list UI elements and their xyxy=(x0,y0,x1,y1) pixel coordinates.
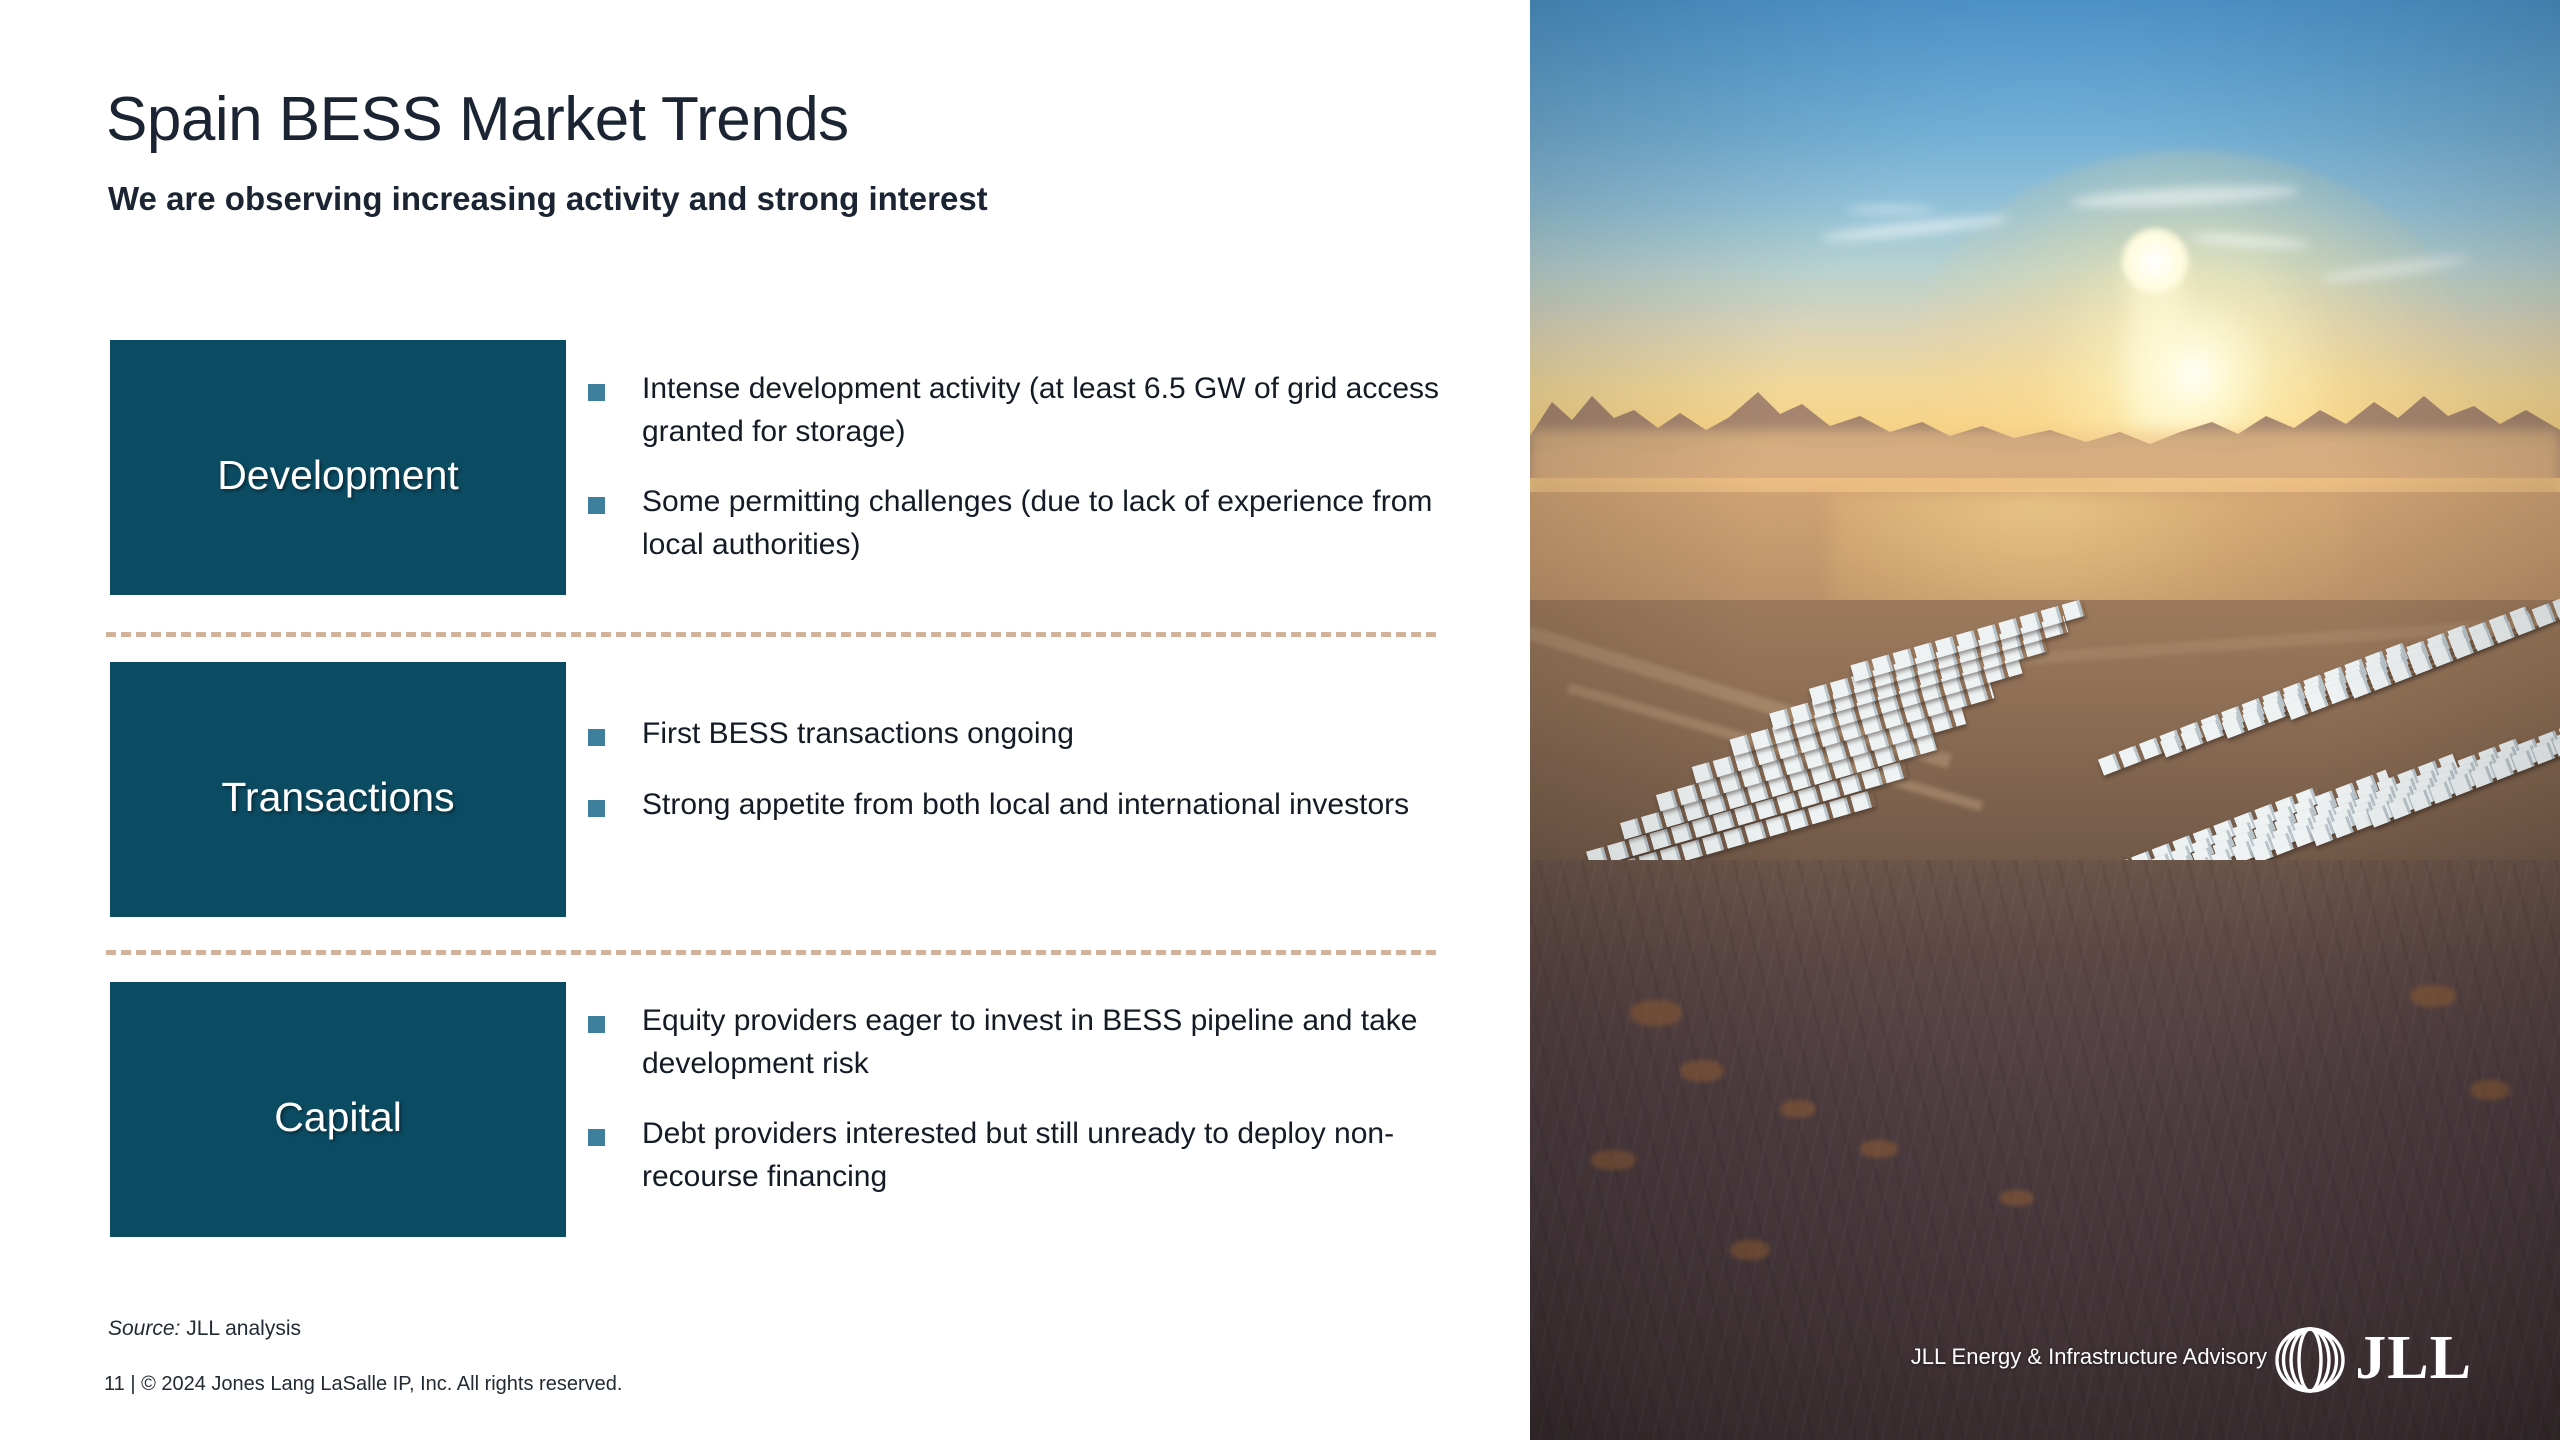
jll-rings-icon xyxy=(2271,1325,2349,1395)
list-item: Some permitting challenges (due to lack … xyxy=(588,481,1468,566)
pillar-box-transactions: Transactions xyxy=(110,662,566,917)
source-label: Source: xyxy=(108,1317,180,1340)
desert-shrub xyxy=(1590,1150,1636,1170)
page-number: 11 xyxy=(104,1373,125,1395)
pillar-box-capital: Capital xyxy=(110,982,566,1237)
desert-shrub xyxy=(1730,1240,1770,1260)
sun-icon xyxy=(2122,228,2188,294)
source-value: JLL analysis xyxy=(180,1317,301,1340)
desert-shrub xyxy=(2000,1190,2034,1206)
pillar-label-capital: Capital xyxy=(274,1094,402,1141)
hero-photo: JLL Energy & Infrastructure Advisory JLL xyxy=(1530,0,2560,1440)
bullet-text: Equity providers eager to invest in BESS… xyxy=(642,1000,1442,1085)
desert-shrub xyxy=(1630,1000,1682,1026)
desert-shrub xyxy=(1780,1100,1816,1118)
footer-separator: | xyxy=(125,1373,141,1395)
bullet-text: Strong appetite from both local and inte… xyxy=(642,784,1409,827)
cloud-streak xyxy=(1845,205,1935,214)
square-bullet-icon xyxy=(588,497,605,514)
square-bullet-icon xyxy=(588,800,605,817)
jll-wordmark: JLL xyxy=(2355,1327,2472,1389)
photo-tagline: JLL Energy & Infrastructure Advisory xyxy=(1911,1344,2267,1370)
slide-canvas: Spain BESS Market Trends We are observin… xyxy=(0,0,2560,1440)
bullet-text: Some permitting challenges (due to lack … xyxy=(642,481,1442,566)
bullet-text: Debt providers interested but still unre… xyxy=(642,1113,1442,1198)
list-item: Equity providers eager to invest in BESS… xyxy=(588,1000,1468,1085)
desert-shrub xyxy=(2410,985,2456,1007)
jll-logo: JLL xyxy=(2271,1325,2472,1395)
pillar-box-development: Development xyxy=(110,340,566,595)
page-subtitle: We are observing increasing activity and… xyxy=(108,180,988,218)
desert-shrub xyxy=(1860,1140,1898,1158)
page-title: Spain BESS Market Trends xyxy=(106,84,849,155)
bullet-text: First BESS transactions ongoing xyxy=(642,713,1074,756)
pillar-label-transactions: Transactions xyxy=(221,774,454,821)
bullet-list-capital: Equity providers eager to invest in BESS… xyxy=(588,1000,1468,1198)
desert-shrub xyxy=(1680,1060,1724,1082)
source-note: Source: JLL analysis xyxy=(108,1317,301,1341)
square-bullet-icon xyxy=(588,729,605,746)
list-item: Strong appetite from both local and inte… xyxy=(588,784,1468,827)
list-item: First BESS transactions ongoing xyxy=(588,713,1468,756)
square-bullet-icon xyxy=(588,384,605,401)
list-item: Debt providers interested but still unre… xyxy=(588,1113,1468,1198)
bullet-list-transactions: First BESS transactions ongoing Strong a… xyxy=(588,713,1468,826)
square-bullet-icon xyxy=(588,1016,605,1033)
square-bullet-icon xyxy=(588,1129,605,1146)
content-pane: Spain BESS Market Trends We are observin… xyxy=(0,0,1530,1440)
footer-copyright: 11 | © 2024 Jones Lang LaSalle IP, Inc. … xyxy=(104,1373,622,1396)
section-divider xyxy=(106,950,1436,955)
desert-shrub xyxy=(2470,1080,2510,1100)
section-divider xyxy=(106,632,1436,637)
copyright-text: © 2024 Jones Lang LaSalle IP, Inc. All r… xyxy=(141,1373,622,1395)
pillar-label-development: Development xyxy=(217,452,459,499)
list-item: Intense development activity (at least 6… xyxy=(588,368,1468,453)
bullet-text: Intense development activity (at least 6… xyxy=(642,368,1442,453)
bullet-list-development: Intense development activity (at least 6… xyxy=(588,368,1468,566)
